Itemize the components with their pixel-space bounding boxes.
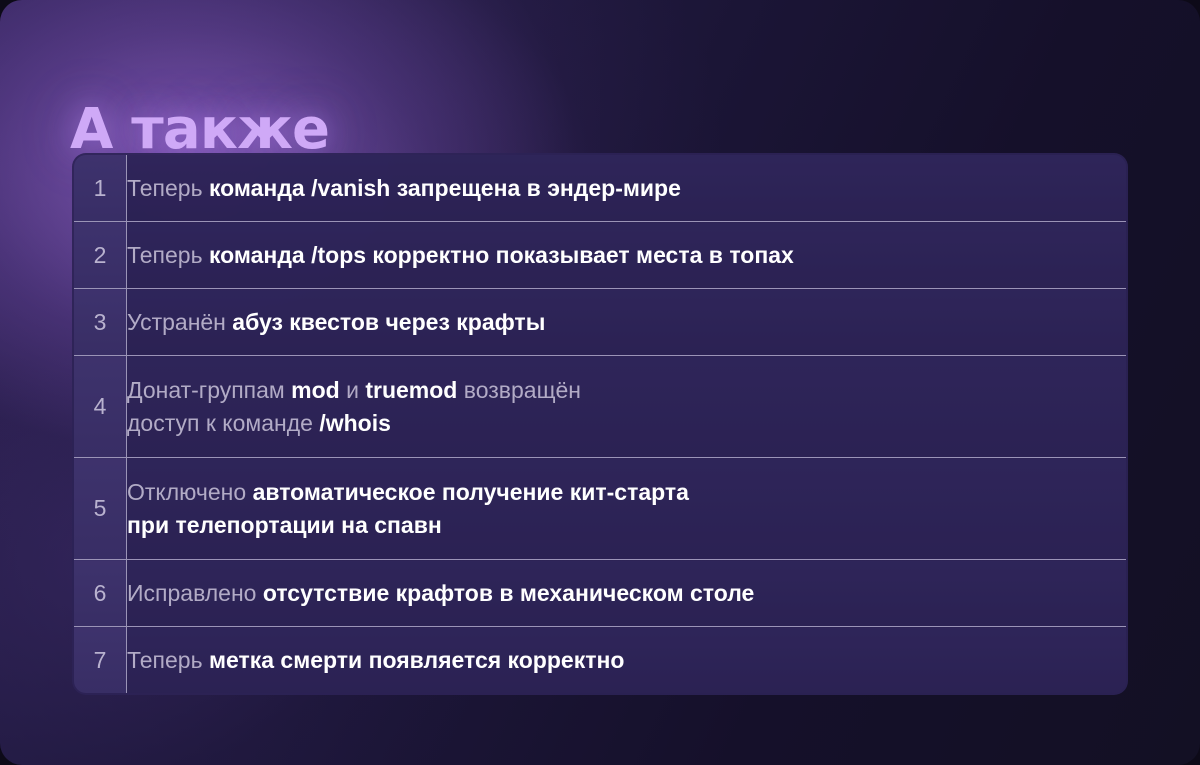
row-text-line: Устранён абуз квестов через крафты [127,306,1126,339]
table-row: 4Донат-группам mod и truemod возвращёндо… [73,356,1127,458]
row-text-line: Донат-группам mod и truemod возвращён [127,374,1126,407]
table-row: 7Теперь метка смерти появляется корректн… [73,627,1127,695]
row-text-cell: Теперь команда /vanish запрещена в эндер… [127,154,1128,222]
row-text-plain: Теперь [127,242,209,268]
row-text-content: Отключено автоматическое получение кит-с… [127,476,1126,542]
row-number-cell: 3 [73,289,127,356]
row-text-content: Устранён абуз квестов через крафты [127,306,1126,339]
row-text-line: Теперь метка смерти появляется корректно [127,644,1126,677]
row-text-cell: Исправлено отсутствие крафтов в механиче… [127,560,1128,627]
row-text-emphasis: mod [291,377,340,403]
row-number-cell: 5 [73,458,127,560]
table-row: 3Устранён абуз квестов через крафты [73,289,1127,356]
row-text-line: доступ к команде /whois [127,407,1126,440]
row-text-plain: Теперь [127,175,209,201]
row-text-plain: и [340,377,366,403]
row-text-line: при телепортации на спавн [127,509,1126,542]
row-text-cell: Теперь команда /tops корректно показывае… [127,222,1128,289]
row-text-emphasis: автоматическое получение кит-старта [253,479,689,505]
row-text-emphasis: абуз квестов через крафты [232,309,545,335]
row-text-plain: Донат-группам [127,377,291,403]
row-text-line: Теперь команда /vanish запрещена в эндер… [127,172,1126,205]
row-text-emphasis: отсутствие крафтов в механическом столе [263,580,754,606]
row-text-plain: возвращён [457,377,581,403]
row-text-cell: Донат-группам mod и truemod возвращёндос… [127,356,1128,458]
table-row: 5Отключено автоматическое получение кит-… [73,458,1127,560]
row-text-content: Исправлено отсутствие крафтов в механиче… [127,577,1126,610]
row-number-cell: 2 [73,222,127,289]
page-title: А также [70,97,329,162]
row-text-emphasis: метка смерти появляется корректно [209,647,624,673]
changes-table-container: 1Теперь команда /vanish запрещена в энде… [72,153,1128,695]
row-text-content: Теперь команда /tops корректно показывае… [127,239,1126,272]
page-root: А также 1Теперь команда /vanish запрещен… [0,0,1200,765]
row-text-emphasis: команда /vanish запрещена в эндер-мире [209,175,681,201]
row-number-cell: 1 [73,154,127,222]
row-text-cell: Отключено автоматическое получение кит-с… [127,458,1128,560]
row-text-content: Донат-группам mod и truemod возвращёндос… [127,374,1126,440]
row-text-plain: доступ к команде [127,410,319,436]
row-text-emphasis: команда /tops корректно показывает места… [209,242,794,268]
row-text-emphasis: при телепортации на спавн [127,512,442,538]
row-number-cell: 7 [73,627,127,695]
row-text-plain: Исправлено [127,580,263,606]
row-text-content: Теперь команда /vanish запрещена в эндер… [127,172,1126,205]
row-text-cell: Теперь метка смерти появляется корректно [127,627,1128,695]
row-text-line: Исправлено отсутствие крафтов в механиче… [127,577,1126,610]
row-number-cell: 6 [73,560,127,627]
row-text-line: Теперь команда /tops корректно показывае… [127,239,1126,272]
row-number-cell: 4 [73,356,127,458]
row-text-cell: Устранён абуз квестов через крафты [127,289,1128,356]
table-row: 6Исправлено отсутствие крафтов в механич… [73,560,1127,627]
row-text-emphasis: /whois [319,410,391,436]
row-text-plain: Устранён [127,309,232,335]
row-text-plain: Отключено [127,479,253,505]
row-text-line: Отключено автоматическое получение кит-с… [127,476,1126,509]
table-row: 1Теперь команда /vanish запрещена в энде… [73,154,1127,222]
row-text-content: Теперь метка смерти появляется корректно [127,644,1126,677]
changes-table-body: 1Теперь команда /vanish запрещена в энде… [73,154,1127,694]
table-row: 2Теперь команда /tops корректно показыва… [73,222,1127,289]
changes-table: 1Теперь команда /vanish запрещена в энде… [72,153,1128,695]
row-text-plain: Теперь [127,647,209,673]
row-text-emphasis: truemod [365,377,457,403]
